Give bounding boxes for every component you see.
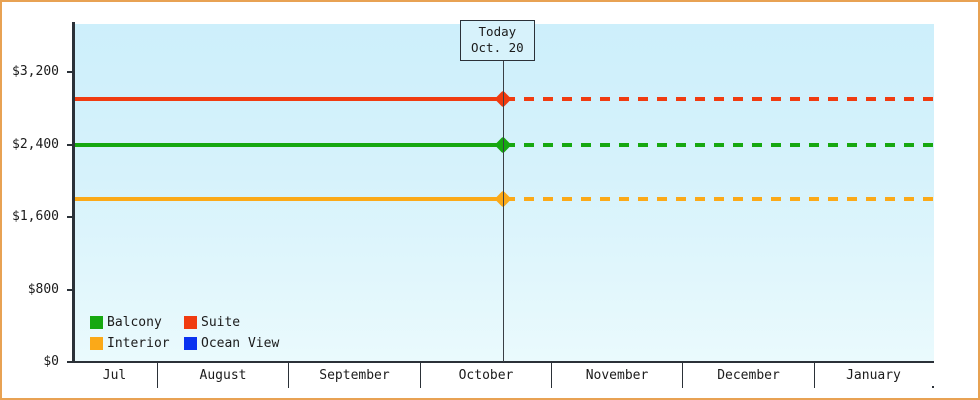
y-tick-3200 [67,71,75,73]
month-cell-september[interactable]: September [289,363,421,388]
series-line-interior-actual [75,197,503,201]
series-line-balcony-actual [75,143,503,147]
month-cell-january[interactable]: January [815,363,932,388]
y-tick-800 [67,289,75,291]
legend-swatch-icon-balcony [90,316,103,329]
legend-item-ocean-view[interactable]: Ocean View [184,337,279,350]
y-tick-2400 [67,144,75,146]
today-callout-title: Today [479,24,517,39]
month-axis: Jul August September October November De… [72,363,934,388]
legend-swatch-icon-interior [90,337,103,350]
legend-label-balcony: Balcony [107,316,162,329]
y-axis-label-800: $800 [28,283,59,296]
chart-legend: Balcony Suite Interior Ocean View [90,312,279,354]
series-line-suite-actual [75,97,503,101]
legend-label-interior: Interior [107,337,170,350]
y-axis-label-2400: $2,400 [12,138,59,151]
price-trend-chart: $3,200 $2,400 $1,600 $800 $0 Today Oct. … [0,0,980,400]
legend-label-suite: Suite [201,316,240,329]
y-axis-label-0: $0 [43,355,59,368]
month-cell-october[interactable]: October [421,363,552,388]
y-axis-label-1600: $1,600 [12,210,59,223]
legend-swatch-icon-suite [184,316,197,329]
y-axis-line [72,22,75,363]
y-axis-label-3200: $3,200 [12,65,59,78]
today-callout: Today Oct. 20 [460,20,535,61]
legend-item-interior[interactable]: Interior [90,337,184,350]
legend-swatch-icon-ocean-view [184,337,197,350]
series-line-balcony-forecast [505,143,934,147]
today-vertical-line [503,24,504,362]
month-cell-jul[interactable]: Jul [72,363,158,388]
y-tick-1600 [67,216,75,218]
legend-item-suite[interactable]: Suite [184,316,279,329]
series-line-interior-forecast [505,197,934,201]
month-cell-november[interactable]: November [552,363,683,388]
legend-item-balcony[interactable]: Balcony [90,316,184,329]
month-cell-august[interactable]: August [158,363,289,388]
legend-label-ocean-view: Ocean View [201,337,279,350]
series-line-suite-forecast [505,97,934,101]
month-cell-december[interactable]: December [683,363,815,388]
today-callout-date: Oct. 20 [471,40,524,56]
